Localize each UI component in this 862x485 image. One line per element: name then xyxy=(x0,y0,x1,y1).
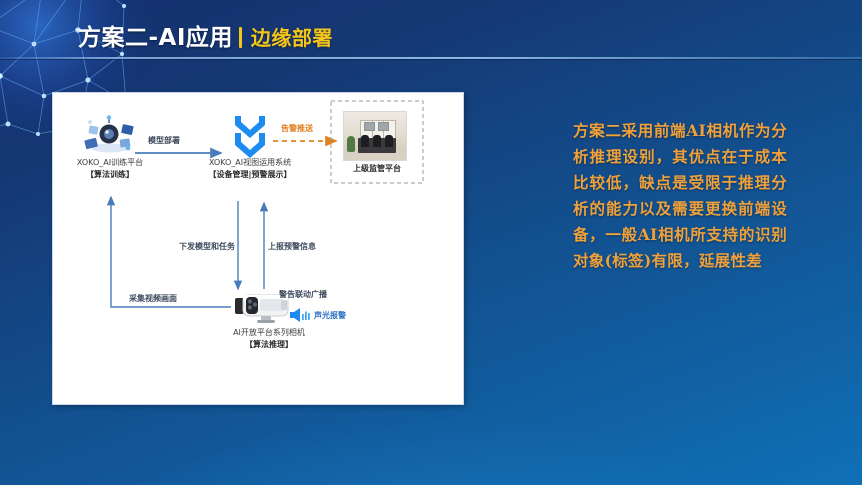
slide-header: 方案二-AI应用 边缘部署 xyxy=(0,0,862,58)
diagram-panel: XOKO_AI训练平台 【算法训练】 XOKO_AI视图运用系统 【设备管理|预… xyxy=(52,92,464,405)
supervision-platform-label: 上级监管平台 xyxy=(337,163,417,175)
camera-label: AI开放平台系列相机 【算法推理】 xyxy=(199,327,339,351)
view-system-name: XOKO_AI视图运用系统 xyxy=(209,158,291,167)
flow-label-dispatch-model-task: 下发模型和任务 xyxy=(179,241,235,252)
camera-name: AI开放平台系列相机 xyxy=(233,328,305,337)
train-platform-name: XOKO_AI训练平台 xyxy=(77,158,143,167)
view-system-label: XOKO_AI视图运用系统 【设备管理|预警展示】 xyxy=(184,157,316,181)
camera-sub: 【算法推理】 xyxy=(245,340,293,349)
architecture-diagram: XOKO_AI训练平台 【算法训练】 XOKO_AI视图运用系统 【设备管理|预… xyxy=(53,93,463,404)
view-system-sub: 【设备管理|预警展示】 xyxy=(209,170,292,179)
page-title: 方案二-AI应用 边缘部署 xyxy=(78,18,333,52)
flow-label-alarm-push: 告警推送 xyxy=(281,123,313,134)
speaker-alarm-icon xyxy=(289,307,313,323)
ai-view-system-icon xyxy=(228,113,272,159)
header-divider-shadow xyxy=(0,59,862,60)
flow-label-alarm-linkage-broadcast: 警告联动广播 xyxy=(279,289,327,300)
flow-label-model-deploy: 模型部署 xyxy=(148,135,180,146)
supervision-platform-name: 上级监管平台 xyxy=(353,164,401,173)
train-platform-label: XOKO_AI训练平台 【算法训练】 xyxy=(62,157,158,181)
flow-label-report-warning: 上报预警信息 xyxy=(268,241,316,252)
page-title-sub: 边缘部署 xyxy=(251,22,333,51)
monitoring-room-photo xyxy=(343,111,407,161)
ai-training-platform-icon xyxy=(81,115,139,155)
flow-label-collect-video: 采集视频画面 xyxy=(129,293,177,304)
page-title-main: 方案二-AI应用 xyxy=(78,18,233,52)
title-separator-bar xyxy=(239,27,242,48)
description-text: 方案二采用前端AI相机作为分析推理设别，其优点在于成本比较低，缺点是受限于推理分… xyxy=(573,118,787,274)
alarm-label: 声光报警 xyxy=(314,310,346,321)
slide: 方案二-AI应用 边缘部署 xyxy=(0,0,862,485)
train-platform-sub: 【算法训练】 xyxy=(86,170,134,179)
